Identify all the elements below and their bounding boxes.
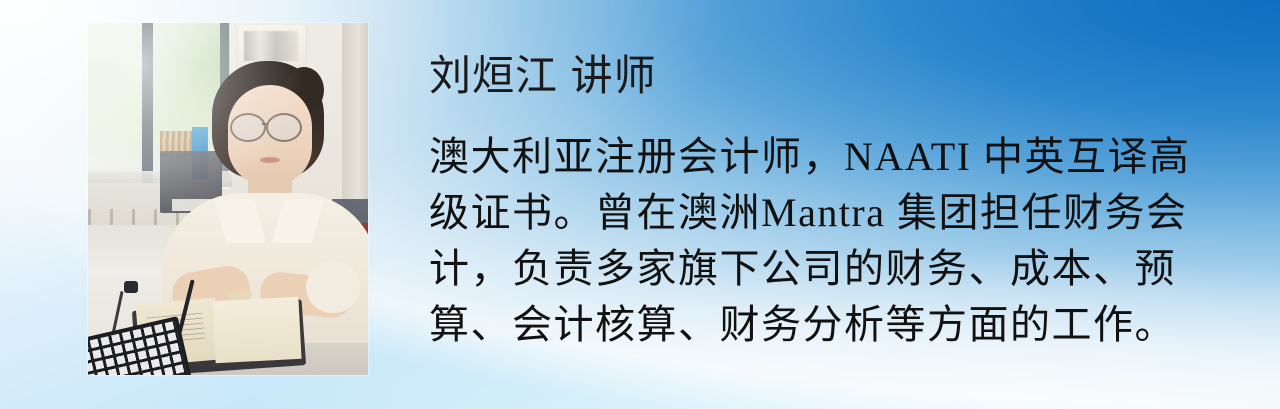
instructor-bio: 澳大利亚注册会计师，NAATI 中英互译高 级证书。曾在澳洲Mantra 集团担…: [429, 129, 1229, 353]
instructor-photo: [88, 23, 368, 375]
bio-line: 级证书。曾在澳洲Mantra 集团担任财务会: [429, 185, 1229, 241]
bio-line: 澳大利亚注册会计师，NAATI 中英互译高: [429, 129, 1229, 185]
instructor-name-title: 刘烜江 讲师: [429, 52, 1229, 99]
instructor-info: 刘烜江 讲师 澳大利亚注册会计师，NAATI 中英互译高 级证书。曾在澳洲Man…: [429, 52, 1229, 353]
bio-line: 算、会计核算、财务分析等方面的工作。: [429, 297, 1229, 353]
bio-line: 计，负责多家旗下公司的财务、成本、预: [429, 241, 1229, 297]
photo-light-overlay: [88, 23, 368, 375]
photo-canvas: [88, 23, 368, 375]
profile-slide: 刘烜江 讲师 澳大利亚注册会计师，NAATI 中英互译高 级证书。曾在澳洲Man…: [0, 0, 1280, 409]
